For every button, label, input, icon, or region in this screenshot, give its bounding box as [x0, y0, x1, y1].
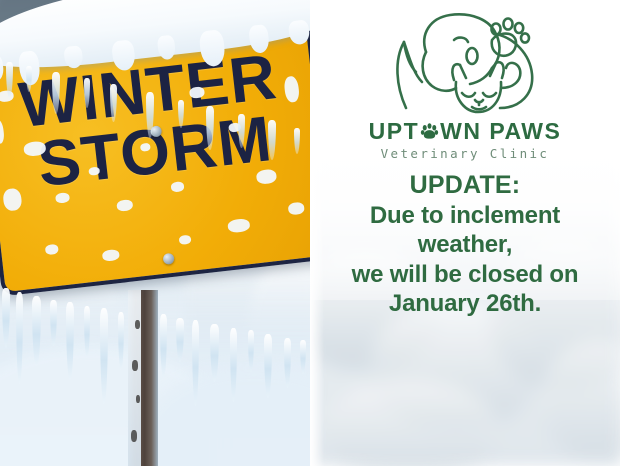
sign-bolt: [163, 253, 175, 265]
logo-wordmark-after: WN PAWS: [440, 118, 561, 145]
notice-heading: UPDATE:: [316, 172, 614, 199]
notice-line: Due to inclement: [316, 201, 614, 230]
logo-subtitle: Veterinary Clinic: [381, 146, 550, 161]
notice-line: we will be closed on: [316, 260, 614, 289]
sign-post-snow: [128, 290, 141, 466]
logo-wordmark: UPT WN PAWS: [369, 118, 562, 145]
closure-notice: UPDATE: Due to inclement weather, we wil…: [316, 172, 614, 318]
announcement-graphic: WINTER STORM: [0, 0, 620, 466]
winter-storm-photo: WINTER STORM: [0, 0, 310, 466]
logo-wordmark-before: UPT: [369, 118, 420, 145]
dog-and-cat-line-art-logo: [380, 8, 550, 120]
notice-line: weather,: [316, 230, 614, 259]
paw-print-icon: [420, 122, 439, 141]
notice-line: January 26th.: [316, 289, 614, 318]
clinic-notice-panel: UPT WN PAWS Veterinary Clinic UPDATE:: [310, 0, 620, 466]
clinic-logo: UPT WN PAWS Veterinary Clinic: [310, 8, 620, 161]
notice-body: Due to inclement weather, we will be clo…: [316, 201, 614, 318]
